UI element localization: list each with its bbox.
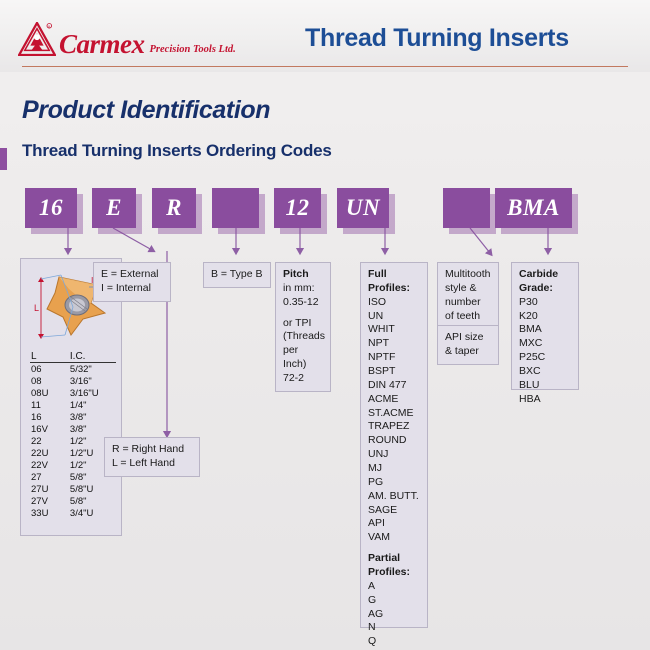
table-row: 27V5/8" — [30, 495, 116, 507]
page-header: R Carmex Precision Tools Ltd. Thread Tur… — [0, 0, 650, 72]
list-item: BSPT — [368, 365, 420, 379]
pitch-range-line: 0.35-12 — [283, 296, 323, 310]
right-left-hand-box: R = Right Hand L = Left Hand — [104, 437, 200, 477]
list-item: BMA — [519, 323, 571, 337]
l-ic-table: L I.C. 065/32"083/16"08U3/16"U111/4"163/… — [30, 351, 116, 519]
right-hand-line: R = Right Hand — [112, 443, 192, 457]
code-box-blank-1[interactable] — [212, 188, 259, 228]
ic-value: 3/16"U — [56, 387, 116, 399]
list-item: BXC — [519, 365, 571, 379]
tpi-line: or TPI — [283, 317, 323, 331]
list-item: UN — [368, 310, 420, 324]
ic-value: 3/8" — [56, 411, 116, 423]
brand-name: Carmex — [59, 31, 145, 58]
list-item: AM. BUTT. — [368, 490, 420, 504]
list-item: BLU — [519, 379, 571, 393]
list-item: API — [368, 517, 420, 531]
ic-value: 3/4"U — [56, 507, 116, 519]
page-title: Product Identification — [22, 96, 270, 125]
tpi-range-line: 72-2 — [283, 372, 323, 386]
carbide-grade-list: P30K20BMAMXCP25CBXCBLUHBA — [519, 296, 571, 407]
list-item: ACME — [368, 393, 420, 407]
code-box-label: BMA — [507, 195, 560, 221]
api-size-box: API size & taper — [437, 325, 499, 365]
partial-profiles-title-1: Partial — [368, 552, 420, 566]
ic-value: 5/32" — [56, 363, 116, 376]
carbide-grade-box: Carbide Grade: P30K20BMAMXCP25CBXCBLUHBA — [511, 262, 579, 390]
table-row: 163/8" — [30, 411, 116, 423]
brand-tagline: Precision Tools Ltd. — [150, 45, 236, 56]
list-item: ISO — [368, 296, 420, 310]
tpi-threads-line: (Threads — [283, 330, 323, 344]
code-box-label: UN — [346, 195, 380, 221]
pitch-title: Pitch — [283, 268, 323, 282]
page-root: R Carmex Precision Tools Ltd. Thread Tur… — [0, 0, 650, 650]
list-item: PG — [368, 476, 420, 490]
l-value: 22V — [30, 459, 56, 471]
table-row: 33U3/4"U — [30, 507, 116, 519]
multitooth-line-3: number — [445, 296, 491, 310]
page-subtitle: Thread Turning Inserts Ordering Codes — [22, 141, 332, 161]
l-value: 33U — [30, 507, 56, 519]
code-box-label: 12 — [286, 195, 310, 221]
pitch-box: Pitch in mm: 0.35-12 or TPI (Threads per… — [275, 262, 331, 392]
l-value: 08 — [30, 375, 56, 387]
code-box-label: 16 — [39, 195, 63, 221]
l-value: 08U — [30, 387, 56, 399]
carbide-title-2: Grade: — [519, 282, 571, 296]
list-item: DIN 477 — [368, 379, 420, 393]
code-box-label: R — [166, 195, 182, 221]
carmex-triangle-logo-icon: R — [18, 22, 56, 56]
list-item: Q — [368, 635, 420, 649]
l-value: 27 — [30, 471, 56, 483]
list-item: SAGE — [368, 504, 420, 518]
multitooth-box: Multitooth style & number of teeth — [437, 262, 499, 329]
l-value: 11 — [30, 399, 56, 411]
list-item: N — [368, 621, 420, 635]
list-item: ST.ACME — [368, 407, 420, 421]
type-b-line: B = Type B — [211, 268, 263, 282]
full-profiles-title-1: Full — [368, 268, 420, 282]
partial-profiles-list: AGAGNQU — [368, 580, 420, 650]
list-item: K20 — [519, 310, 571, 324]
full-profiles-title-2: Profiles: — [368, 282, 420, 296]
list-item: P25C — [519, 351, 571, 365]
list-item: UNJ — [368, 448, 420, 462]
pitch-unit-line: in mm: — [283, 282, 323, 296]
header-title: Thread Turning Inserts — [305, 24, 569, 53]
list-item: G — [368, 594, 420, 608]
dimension-label-l: L — [34, 303, 39, 313]
list-item: P30 — [519, 296, 571, 310]
code-box-grade[interactable]: BMA — [495, 188, 572, 228]
list-item: A — [368, 580, 420, 594]
l-value: 22U — [30, 447, 56, 459]
code-box-label: E — [106, 195, 122, 221]
code-box-profile[interactable]: UN — [337, 188, 389, 228]
code-box-type[interactable]: E — [92, 188, 136, 228]
list-item: TRAPEZ — [368, 420, 420, 434]
table-row: 16V3/8" — [30, 423, 116, 435]
multitooth-line-4: of teeth — [445, 310, 491, 324]
table-row: 083/16" — [30, 375, 116, 387]
api-line-2: & taper — [445, 345, 491, 359]
external-internal-box: E = External I = Internal — [93, 262, 171, 302]
list-item: AG — [368, 608, 420, 622]
l-value: 06 — [30, 363, 56, 376]
table-row: 111/4" — [30, 399, 116, 411]
left-hand-line: L = Left Hand — [112, 457, 192, 471]
l-value: 27U — [30, 483, 56, 495]
ic-value: 3/16" — [56, 375, 116, 387]
code-box-size[interactable]: 16 — [25, 188, 77, 228]
carbide-title-1: Carbide — [519, 268, 571, 282]
code-box-hand[interactable]: R — [152, 188, 196, 228]
l-value: 27V — [30, 495, 56, 507]
l-ic-table-header-ic: I.C. — [56, 351, 116, 363]
multitooth-line-1: Multitooth — [445, 268, 491, 282]
list-item: NPT — [368, 337, 420, 351]
code-box-blank-2[interactable] — [443, 188, 490, 228]
partial-profiles-title-2: Profiles: — [368, 566, 420, 580]
ic-value: 5/8" — [56, 495, 116, 507]
external-line: E = External — [101, 268, 163, 282]
full-profiles-list: ISOUNWHITNPTNPTFBSPTDIN 477ACMEST.ACMETR… — [368, 296, 420, 545]
list-item: WHIT — [368, 323, 420, 337]
accent-bar — [0, 148, 7, 170]
ic-value: 3/8" — [56, 423, 116, 435]
list-item: MJ — [368, 462, 420, 476]
header-divider — [22, 66, 628, 67]
code-box-pitch[interactable]: 12 — [274, 188, 321, 228]
l-value: 22 — [30, 435, 56, 447]
l-ic-table-header-l: L — [30, 351, 56, 363]
api-line-1: API size — [445, 331, 491, 345]
profiles-box: Full Profiles: ISOUNWHITNPTNPTFBSPTDIN 4… — [360, 262, 428, 628]
brand-logo: R Carmex Precision Tools Ltd. — [18, 22, 236, 58]
list-item: HBA — [519, 393, 571, 407]
list-item: NPTF — [368, 351, 420, 365]
tpi-perinch-line: per Inch) — [283, 344, 323, 372]
type-b-box: B = Type B — [203, 262, 271, 288]
multitooth-line-2: style & — [445, 282, 491, 296]
l-value: 16V — [30, 423, 56, 435]
table-row: 27U5/8"U — [30, 483, 116, 495]
l-value: 16 — [30, 411, 56, 423]
internal-line: I = Internal — [101, 282, 163, 296]
table-row: 065/32" — [30, 363, 116, 376]
ic-value: 5/8"U — [56, 483, 116, 495]
ic-value: 1/4" — [56, 399, 116, 411]
list-item: ROUND — [368, 434, 420, 448]
list-item: MXC — [519, 337, 571, 351]
list-item: VAM — [368, 531, 420, 545]
table-row: 08U3/16"U — [30, 387, 116, 399]
